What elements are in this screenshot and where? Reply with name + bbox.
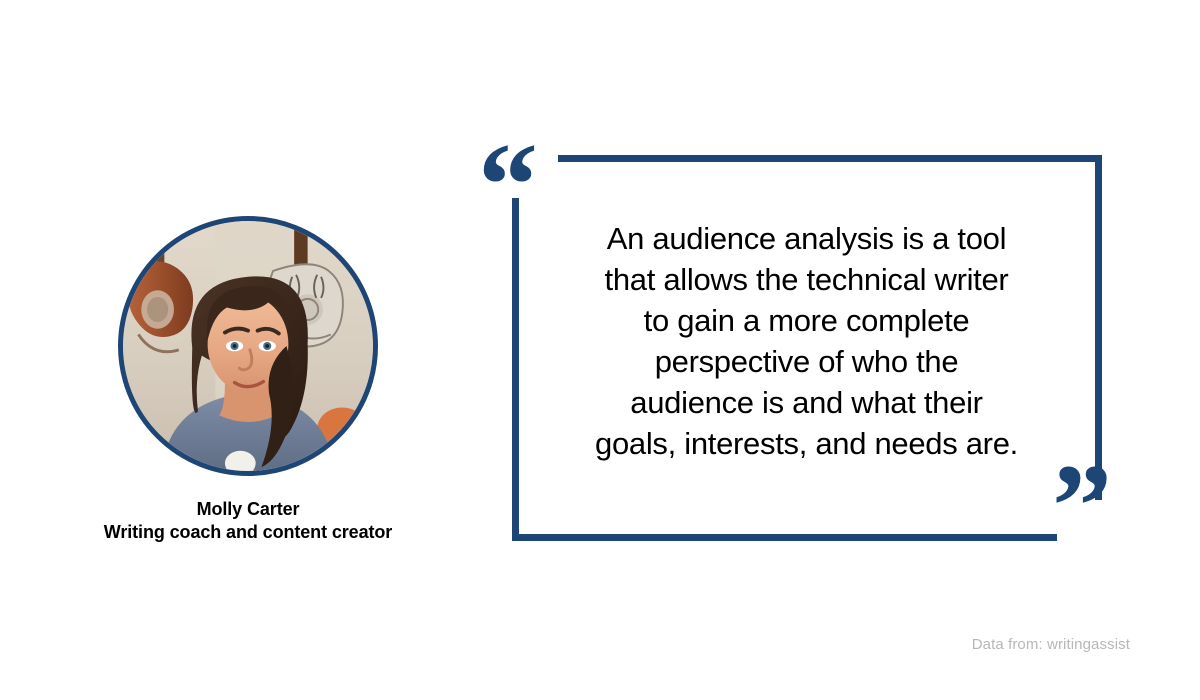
quote-close-mark-icon: ” <box>1052 446 1112 566</box>
quote-text: An audience analysis is a tool that allo… <box>534 218 1079 464</box>
avatar-ring <box>118 216 378 476</box>
frame-border-bottom <box>512 534 1057 541</box>
quote-frame: “ ” An audience analysis is a tool that … <box>472 130 1152 570</box>
quote-open-mark-icon: “ <box>478 125 538 245</box>
avatar <box>118 216 378 476</box>
speaker-block: Molly Carter Writing coach and content c… <box>48 216 448 544</box>
quote-line: audience is and what their <box>534 382 1079 423</box>
quote-card: Molly Carter Writing coach and content c… <box>0 0 1200 700</box>
frame-border-top <box>558 155 1102 162</box>
speaker-attribution: Molly Carter Writing coach and content c… <box>48 498 448 544</box>
quote-line: to gain a more complete <box>534 300 1079 341</box>
quote-line: An audience analysis is a tool <box>534 218 1079 259</box>
portrait-illustration <box>123 221 373 471</box>
quote-line: perspective of who the <box>534 341 1079 382</box>
quote-line: that allows the technical writer <box>534 259 1079 300</box>
source-attribution: Data from: writingassist <box>972 636 1130 653</box>
speaker-name: Molly Carter <box>48 498 448 521</box>
avatar-photo <box>123 221 373 471</box>
speaker-role: Writing coach and content creator <box>48 521 448 544</box>
quote-line: goals, interests, and needs are. <box>534 423 1079 464</box>
